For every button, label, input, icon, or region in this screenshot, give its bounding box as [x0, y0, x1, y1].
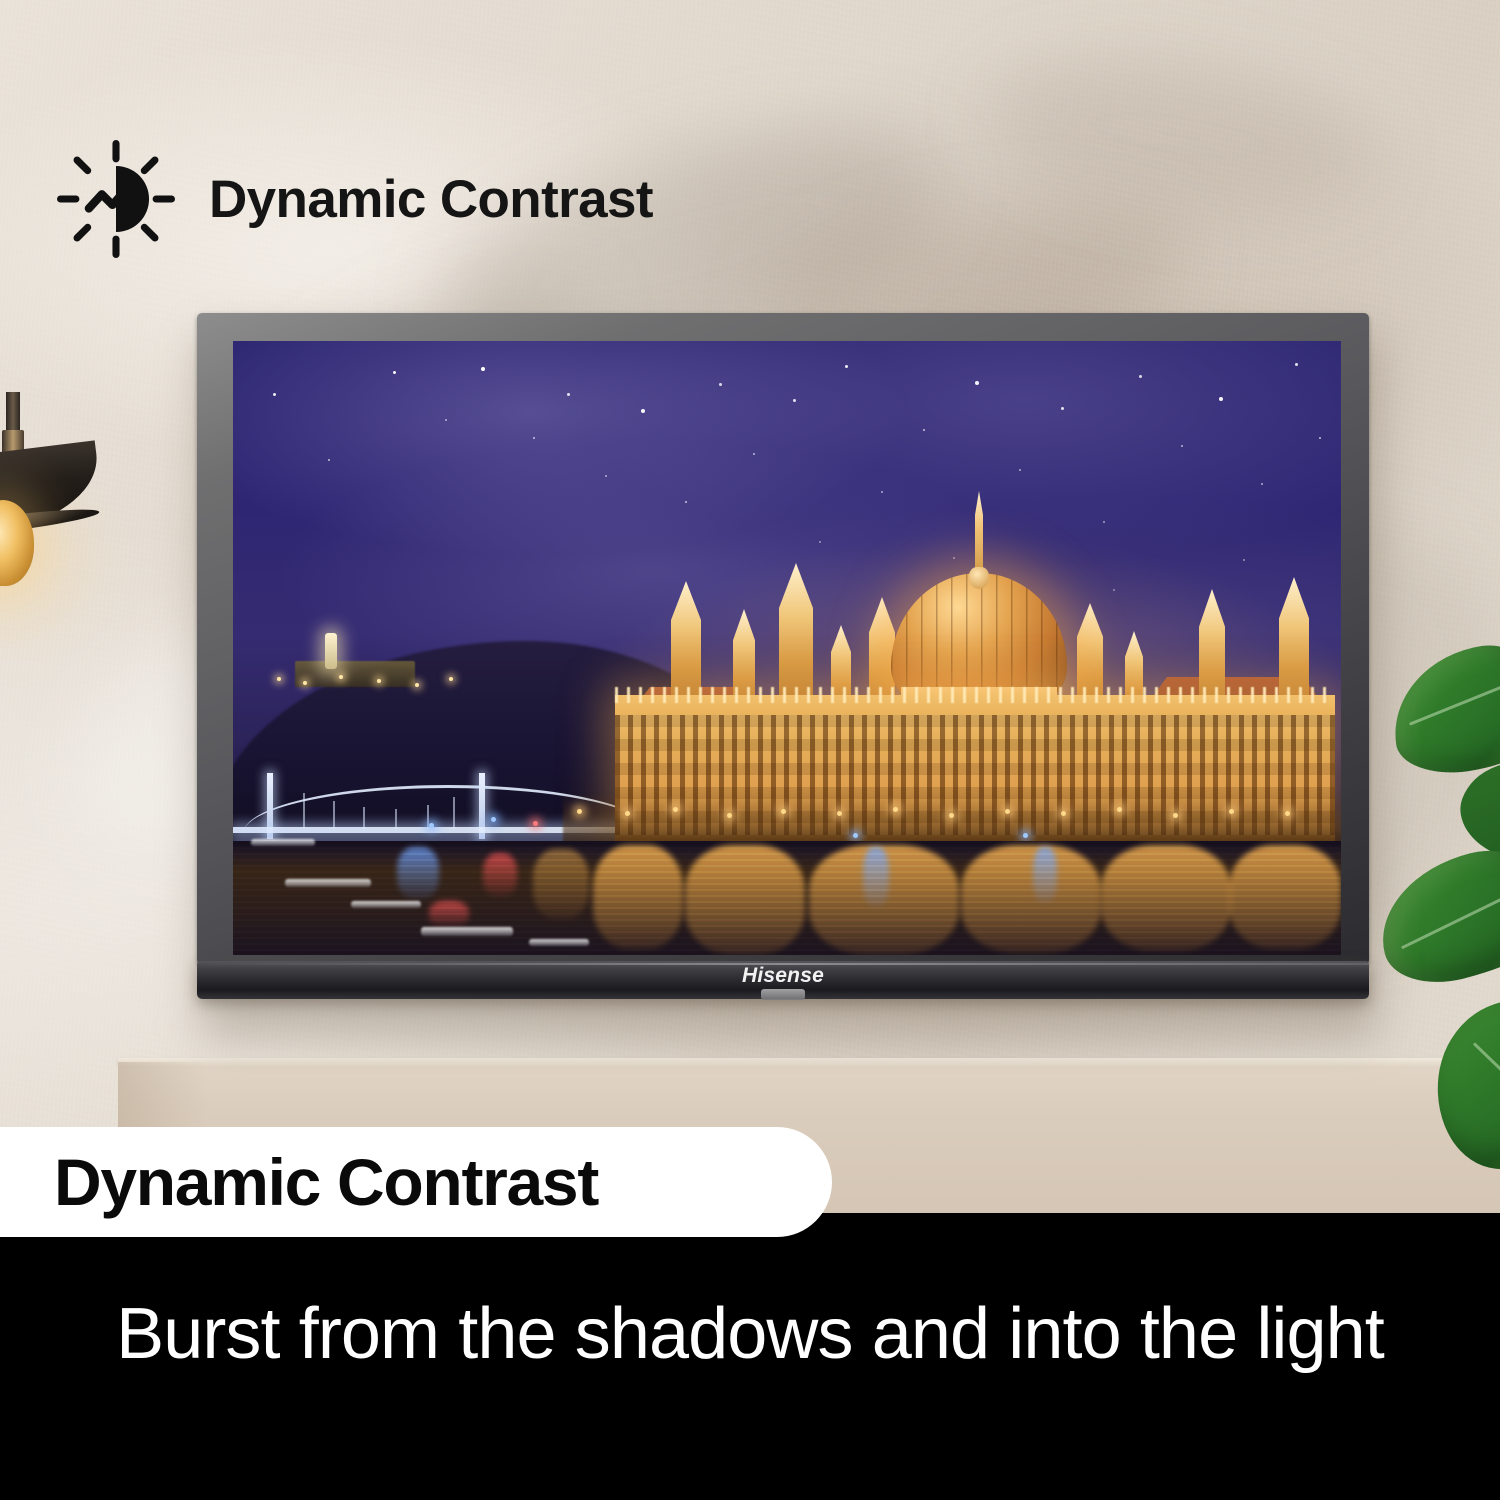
- dynamic-contrast-sun-icon: [57, 140, 175, 258]
- tagline: Burst from the shadows and into the ligh…: [0, 1298, 1500, 1370]
- feature-header: Dynamic Contrast: [57, 140, 653, 258]
- dome-ribs: [891, 573, 1067, 703]
- ir-receiver: [761, 989, 805, 1000]
- water-ripples: [233, 841, 1341, 955]
- pill-label: Dynamic Contrast: [54, 1149, 598, 1215]
- spire-lantern: [969, 567, 989, 589]
- brand-logo: Hisense: [197, 964, 1369, 988]
- console-top-edge: [118, 1058, 1500, 1068]
- leaf-vein: [1401, 880, 1500, 949]
- leaf-vein: [1409, 673, 1500, 725]
- tv-bottom-bezel: Hisense: [197, 961, 1369, 999]
- roof-pinnacles: [615, 687, 1335, 703]
- hill-lights: [273, 673, 473, 691]
- feature-name-pill: Dynamic Contrast: [0, 1127, 832, 1237]
- television: Hisense: [197, 313, 1369, 999]
- product-feature-banner: Dynamic Contrast: [0, 0, 1500, 1500]
- tv-screen: [233, 341, 1341, 955]
- leaf-vein: [1473, 1042, 1500, 1121]
- liberty-statue: [325, 633, 337, 669]
- feature-title: Dynamic Contrast: [209, 173, 653, 226]
